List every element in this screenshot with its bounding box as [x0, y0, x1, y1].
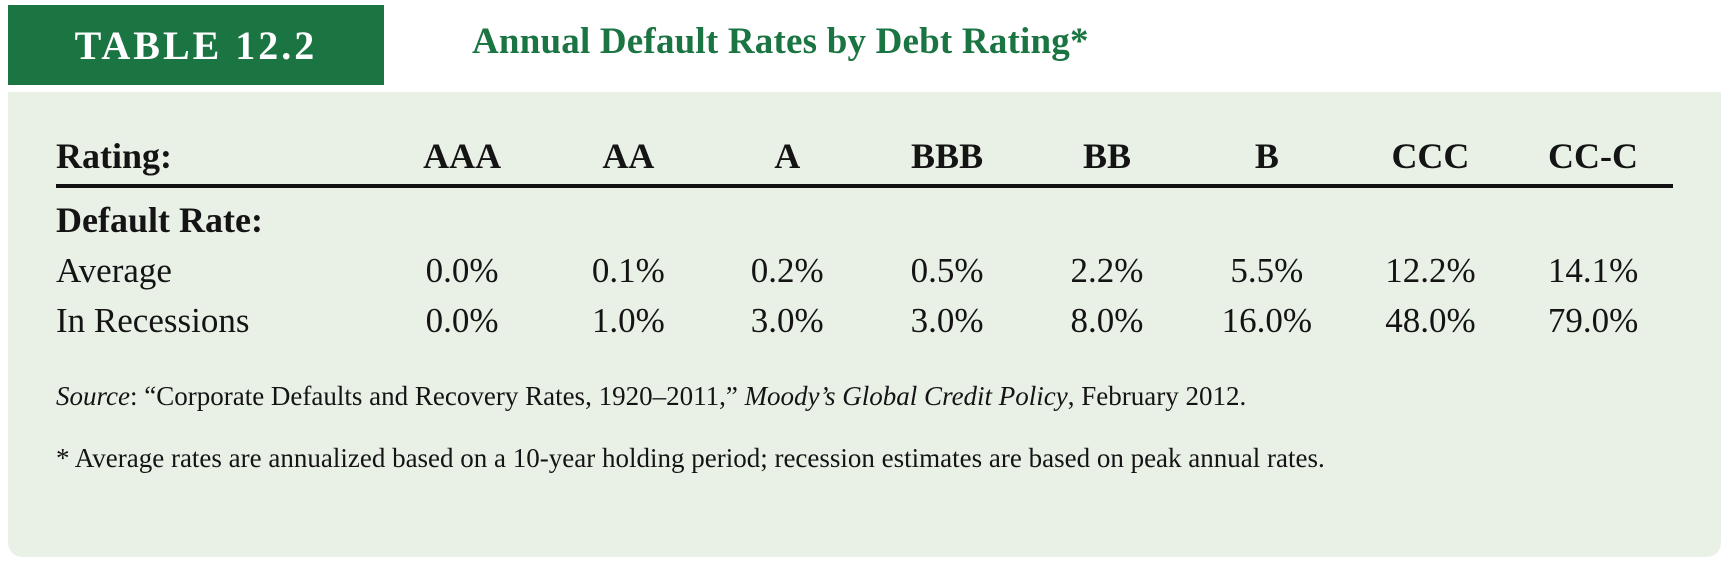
section-spacer-4: [866, 186, 1028, 240]
column-header-cc-c: CC-C: [1513, 134, 1673, 186]
source-line: Source: “Corporate Defaults and Recovery…: [56, 380, 1685, 414]
table-number-tab: TABLE 12.2: [8, 5, 384, 85]
cell-average-ccc: 12.2%: [1348, 240, 1513, 290]
cell-average-a: 0.2%: [708, 240, 866, 290]
default-rates-table: Rating: AAA AA A BBB BB B CCC CC-C Defau…: [56, 134, 1673, 340]
figure-title: Annual Default Rates by Debt Rating*: [472, 20, 1089, 63]
cell-recession-ccc: 48.0%: [1348, 290, 1513, 340]
table-section-row: Default Rate:: [56, 186, 1673, 240]
cell-recession-bb: 8.0%: [1028, 290, 1186, 340]
cell-average-bb: 2.2%: [1028, 240, 1186, 290]
source-publication: Moody’s Global Credit Policy: [745, 381, 1068, 411]
column-header-b: B: [1186, 134, 1348, 186]
section-spacer-2: [548, 186, 708, 240]
cell-average-aa: 0.1%: [548, 240, 708, 290]
row-label-average: Average: [56, 240, 376, 290]
column-header-bb: BB: [1028, 134, 1186, 186]
section-spacer-1: [376, 186, 549, 240]
figure-body-panel: Rating: AAA AA A BBB BB B CCC CC-C Defau…: [8, 92, 1721, 557]
column-header-aaa: AAA: [376, 134, 549, 186]
cell-average-aaa: 0.0%: [376, 240, 549, 290]
column-header-a: A: [708, 134, 866, 186]
table-notes: Source: “Corporate Defaults and Recovery…: [56, 380, 1685, 476]
cell-recession-a: 3.0%: [708, 290, 866, 340]
source-label: Source: [56, 381, 130, 411]
cell-recession-aa: 1.0%: [548, 290, 708, 340]
column-header-aa: AA: [548, 134, 708, 186]
cell-average-cc-c: 14.1%: [1513, 240, 1673, 290]
footnote-line: * Average rates are annualized based on …: [56, 442, 1685, 476]
table-figure: TABLE 12.2 Annual Default Rates by Debt …: [0, 0, 1729, 565]
cell-average-bbb: 0.5%: [866, 240, 1028, 290]
section-spacer-8: [1513, 186, 1673, 240]
cell-average-b: 5.5%: [1186, 240, 1348, 290]
column-header-rating: Rating:: [56, 134, 376, 186]
section-spacer-3: [708, 186, 866, 240]
table-row: In Recessions 0.0% 1.0% 3.0% 3.0% 8.0% 1…: [56, 290, 1673, 340]
cell-recession-aaa: 0.0%: [376, 290, 549, 340]
cell-recession-cc-c: 79.0%: [1513, 290, 1673, 340]
table-row: Average 0.0% 0.1% 0.2% 0.5% 2.2% 5.5% 12…: [56, 240, 1673, 290]
cell-recession-b: 16.0%: [1186, 290, 1348, 340]
section-spacer-5: [1028, 186, 1186, 240]
table-number-label: TABLE 12.2: [75, 22, 318, 69]
source-text-1: : “Corporate Defaults and Recovery Rates…: [130, 381, 745, 411]
section-spacer-7: [1348, 186, 1513, 240]
row-label-in-recessions: In Recessions: [56, 290, 376, 340]
source-text-2: , February 2012.: [1068, 381, 1246, 411]
column-header-ccc: CCC: [1348, 134, 1513, 186]
section-spacer-6: [1186, 186, 1348, 240]
figure-header: TABLE 12.2 Annual Default Rates by Debt …: [0, 0, 1729, 92]
column-header-bbb: BBB: [866, 134, 1028, 186]
section-label-default-rate: Default Rate:: [56, 186, 376, 240]
table-header-row: Rating: AAA AA A BBB BB B CCC CC-C: [56, 134, 1673, 186]
cell-recession-bbb: 3.0%: [866, 290, 1028, 340]
